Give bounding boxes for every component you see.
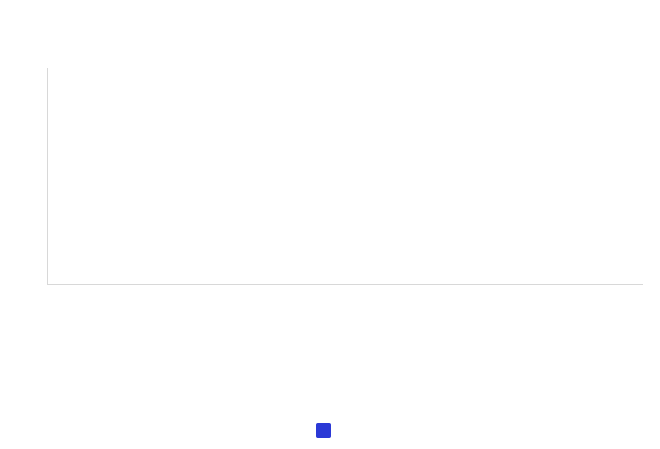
x-axis-category-labels	[48, 291, 643, 386]
maimai-logo-icon	[316, 423, 331, 438]
y-axis	[0, 60, 45, 292]
bar-series-group	[48, 68, 643, 285]
chart-container	[0, 0, 660, 449]
chart-footer	[0, 423, 660, 438]
